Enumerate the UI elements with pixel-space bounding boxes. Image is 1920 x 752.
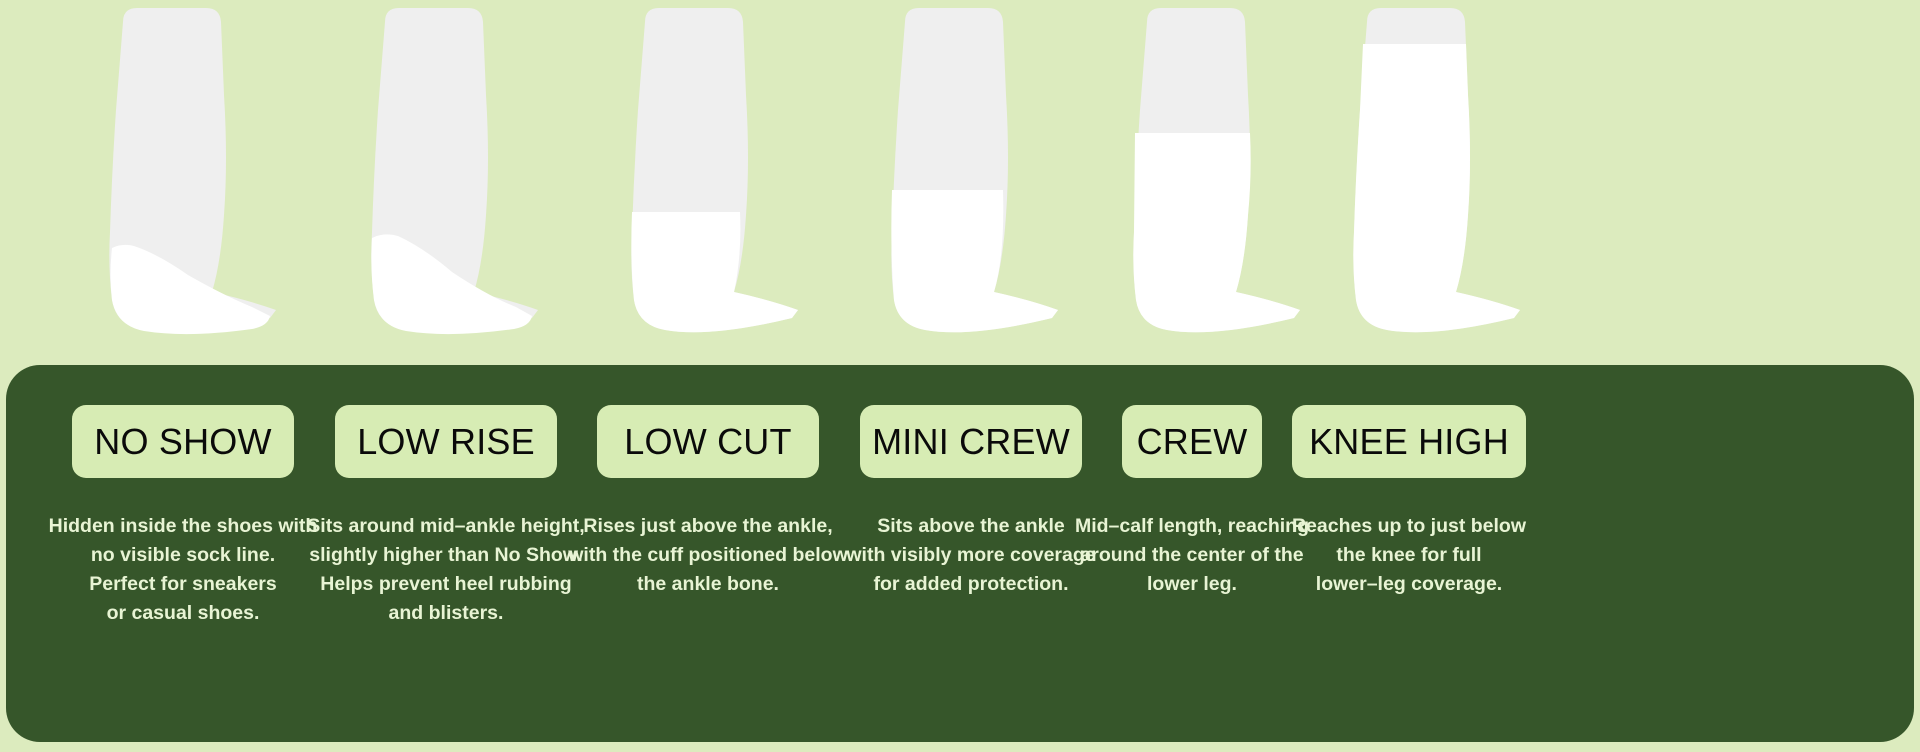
column-low-rise: LOW RISE Sits around mid–ankle height, s… xyxy=(300,405,592,628)
pill-label-crew: CREW xyxy=(1137,424,1248,460)
column-no-show: NO SHOW Hidden inside the shoes with no … xyxy=(38,405,328,628)
pill-label-no-show: NO SHOW xyxy=(94,424,271,460)
description-crew: Mid–calf length, reaching around the cen… xyxy=(1075,512,1309,599)
pill-label-mini-crew: MINI CREW xyxy=(872,424,1070,460)
description-low-rise: Sits around mid–ankle height, slightly h… xyxy=(307,512,584,628)
pill-no-show[interactable]: NO SHOW xyxy=(72,405,294,478)
sock-overlay-low-cut xyxy=(631,212,798,332)
pill-crew[interactable]: CREW xyxy=(1122,405,1262,478)
description-low-cut: Rises just above the ankle, with the cuf… xyxy=(568,512,847,599)
column-knee-high: KNEE HIGH Reaches up to just below the k… xyxy=(1292,405,1526,599)
pill-label-knee-high: KNEE HIGH xyxy=(1309,424,1509,460)
pill-low-rise[interactable]: LOW RISE xyxy=(335,405,557,478)
pill-low-cut[interactable]: LOW CUT xyxy=(597,405,819,478)
pill-label-low-rise: LOW RISE xyxy=(357,424,535,460)
sock-length-infographic: NO SHOW Hidden inside the shoes with no … xyxy=(0,0,1920,752)
sock-overlay-crew xyxy=(1133,133,1300,332)
sock-overlay-knee-high xyxy=(1353,44,1520,332)
pill-knee-high[interactable]: KNEE HIGH xyxy=(1292,405,1526,478)
description-no-show: Hidden inside the shoes with no visible … xyxy=(49,512,318,628)
pill-label-low-cut: LOW CUT xyxy=(624,424,791,460)
sock-illustration-knee-high xyxy=(1282,0,1602,400)
sock-overlay-mini-crew xyxy=(891,190,1058,332)
description-knee-high: Reaches up to just below the knee for fu… xyxy=(1284,512,1534,599)
sock-illustration-band xyxy=(0,0,1920,400)
column-low-cut: LOW CUT Rises just above the ankle, with… xyxy=(561,405,855,599)
